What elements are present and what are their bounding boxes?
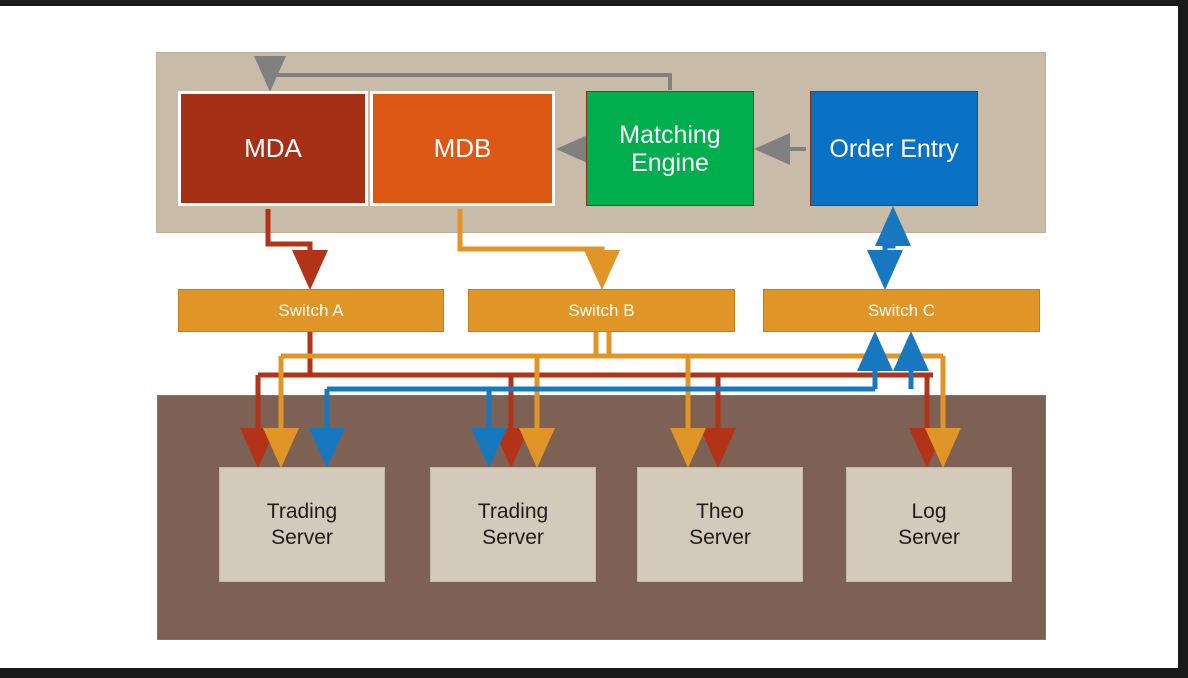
node-mdb-label: MDB bbox=[434, 134, 492, 163]
switch-c[interactable]: Switch C bbox=[763, 289, 1040, 332]
server-trading-server-1[interactable]: Trading Server bbox=[219, 467, 385, 582]
node-order-entry[interactable]: Order Entry bbox=[810, 91, 978, 206]
server-log-server[interactable]: Log Server bbox=[846, 467, 1012, 582]
server-theo-server-line2: Server bbox=[689, 526, 751, 549]
server-theo-server[interactable]: Theo Server bbox=[637, 467, 803, 582]
server-trading-server-2[interactable]: Trading Server bbox=[430, 467, 596, 582]
switch-b[interactable]: Switch B bbox=[468, 289, 735, 332]
node-matching-engine-label-line2: Engine bbox=[631, 149, 709, 177]
server-trading-server-2-line2: Server bbox=[482, 526, 544, 549]
diagram-canvas: MDA MDB Matching Engine Order Entry Swit… bbox=[0, 6, 1178, 668]
server-trading-server-2-line1: Trading bbox=[478, 500, 548, 523]
server-trading-server-1-line2: Server bbox=[271, 526, 333, 549]
frame-band-right bbox=[1178, 0, 1188, 678]
node-matching-engine[interactable]: Matching Engine bbox=[586, 91, 754, 206]
frame-band-bottom bbox=[0, 668, 1188, 678]
node-mda-label: MDA bbox=[244, 134, 302, 163]
server-theo-server-line1: Theo bbox=[696, 500, 744, 523]
switch-a[interactable]: Switch A bbox=[178, 289, 444, 332]
node-matching-engine-label-line1: Matching bbox=[619, 121, 720, 149]
node-mda[interactable]: MDA bbox=[178, 91, 368, 206]
server-log-server-line2: Server bbox=[898, 526, 960, 549]
switch-c-label: Switch C bbox=[868, 301, 935, 321]
switch-b-label: Switch B bbox=[568, 301, 634, 321]
node-mdb[interactable]: MDB bbox=[370, 91, 555, 206]
switch-a-label: Switch A bbox=[278, 301, 343, 321]
server-trading-server-1-line1: Trading bbox=[267, 500, 337, 523]
node-order-entry-label: Order Entry bbox=[829, 135, 958, 163]
server-log-server-line1: Log bbox=[911, 500, 946, 523]
